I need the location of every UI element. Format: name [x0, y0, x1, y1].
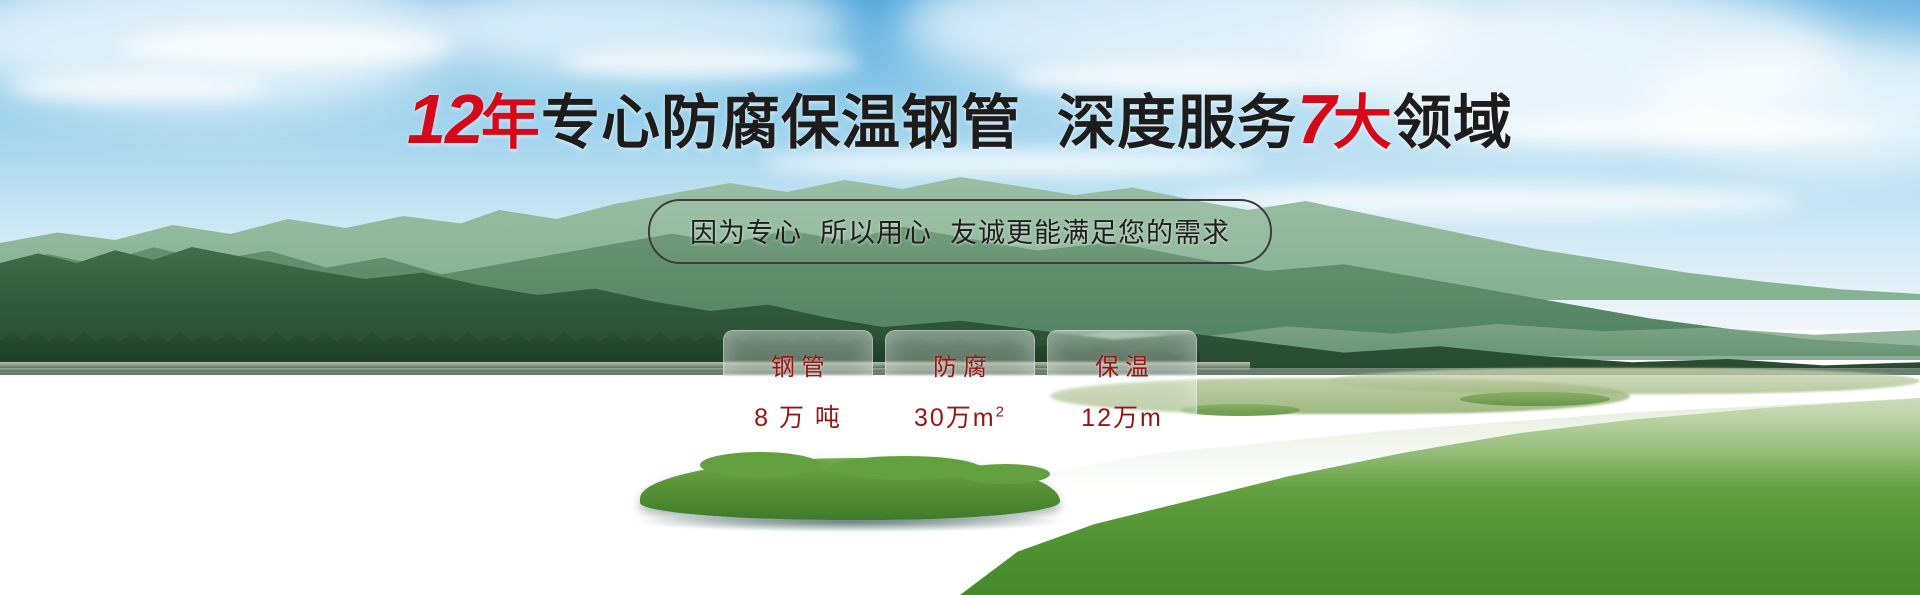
stat-card-title: 防腐: [927, 347, 993, 382]
cloud-shape: [560, 48, 860, 76]
stat-card-value-text: 30万m: [914, 404, 996, 432]
subtitle-pill: 因为专心所以用心友诚更能满足您的需求: [648, 199, 1272, 264]
hero-banner: 12年专心防腐保温钢管深度服务7大领域 因为专心所以用心友诚更能满足您的需求 钢…: [0, 0, 1920, 595]
stat-card-group: 钢管 8 万 吨 防腐 30万m2 保温 12万m: [723, 330, 1197, 450]
stat-card-value-superscript: 2: [996, 403, 1006, 420]
island-tuft: [700, 452, 820, 478]
stat-card-steel-pipe: 钢管 8 万 吨: [723, 330, 873, 450]
banner-headline: 12年专心防腐保温钢管深度服务7大领域: [0, 84, 1920, 154]
stat-card-value: 30万m2: [914, 398, 1006, 434]
stat-card-title: 保温: [1089, 347, 1155, 382]
headline-red-da: 大: [1333, 90, 1393, 156]
stat-card-title: 钢管: [765, 347, 831, 382]
cloud-shape: [120, 26, 450, 66]
islet-shape: [1460, 392, 1610, 406]
stat-card-anticorrosion: 防腐 30万m2: [885, 330, 1035, 450]
stat-card-value: 12万m: [1081, 398, 1163, 434]
island-tuft: [830, 456, 980, 480]
subtitle-part-2: 所以用心: [820, 218, 932, 248]
headline-segment2-prefix: 深度服务: [1057, 90, 1297, 156]
island-tuft: [960, 464, 1050, 484]
islet-shape: [1180, 404, 1300, 416]
headline-number-7: 7: [1297, 80, 1335, 158]
stat-card-insulation: 保温 12万m: [1047, 330, 1197, 450]
stat-card-value: 8 万 吨: [754, 398, 842, 434]
subtitle-part-1: 因为专心: [690, 218, 802, 248]
stat-card-value-text: 12万m: [1081, 404, 1163, 432]
headline-number-12: 12: [407, 80, 483, 158]
stat-card-value-text: 8 万 吨: [754, 404, 842, 432]
wetland-strip: [1330, 368, 1920, 394]
headline-segment2-suffix: 领域: [1393, 90, 1513, 156]
headline-main-text: 专心防腐保温钢管: [541, 90, 1021, 156]
headline-red-year: 年: [481, 90, 541, 156]
subtitle-part-3: 友诚更能满足您的需求: [950, 218, 1230, 248]
